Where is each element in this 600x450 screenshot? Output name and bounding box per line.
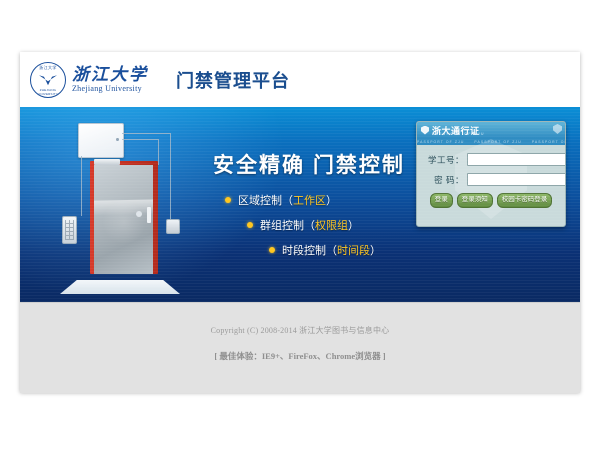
feature-highlight: 权限组 bbox=[315, 217, 348, 233]
site-header: 浙江大学 ZHEJIANG UNIVERSITY 浙江大学 Zhejiang U… bbox=[20, 52, 580, 107]
university-name: 浙江大学 Zhejiang University bbox=[72, 66, 148, 93]
feature-label: 群组控制（ bbox=[260, 217, 315, 233]
wire-to-keypad bbox=[81, 156, 82, 216]
feature-label: 区域控制（ bbox=[238, 192, 293, 208]
feature-item-area-control: 区域控制（ 工作区 ） bbox=[225, 192, 381, 208]
zju-seal-icon: 浙江大学 ZHEJIANG UNIVERSITY bbox=[30, 62, 66, 98]
banner-headline: 安全精确 门禁控制 bbox=[213, 149, 405, 179]
wire-top-right-2 bbox=[122, 139, 158, 140]
strip-text: PASSPORT OF ZJU bbox=[532, 140, 565, 144]
username-label: 学工号： bbox=[424, 154, 467, 166]
login-panel: 浙大通行证 PASSPORT OF ZJU PASSPORT OF ZJU PA… bbox=[416, 121, 566, 227]
login-panel-subtitle: PASSPORT OF ZJU bbox=[432, 132, 485, 136]
seal-top-text: 浙江大学 bbox=[31, 65, 65, 70]
password-label: 密 码： bbox=[424, 174, 467, 186]
bullet-dot-icon bbox=[247, 222, 253, 228]
door-handle-icon bbox=[147, 207, 151, 223]
login-button[interactable]: 登录 bbox=[430, 193, 453, 208]
hero-banner: 安全精确 门禁控制 区域控制（ 工作区 ） 群组控制（ 权限组 ） 时段 bbox=[20, 107, 580, 302]
login-panel-header: 浙大通行证 PASSPORT OF ZJU bbox=[417, 122, 565, 138]
controller-box-icon bbox=[78, 123, 124, 158]
login-notice-button[interactable]: 登录须知 bbox=[457, 193, 493, 208]
wire-to-closer bbox=[158, 139, 159, 165]
seal-bottom-text: ZHEJIANG UNIVERSITY bbox=[31, 88, 65, 96]
login-form: 学工号： 密 码： 登录 登录须知 校园卡密码登录 bbox=[417, 145, 565, 208]
feature-tail: ） bbox=[370, 242, 381, 258]
field-row-username: 学工号： bbox=[424, 153, 558, 166]
feature-highlight: 工作区 bbox=[293, 192, 326, 208]
wire-to-cardreader bbox=[170, 133, 171, 219]
feature-highlight: 时间段 bbox=[337, 242, 370, 258]
feature-label: 时段控制（ bbox=[282, 242, 337, 258]
door-knob-icon bbox=[136, 211, 142, 217]
shield-icon bbox=[421, 126, 429, 135]
field-row-password: 密 码： bbox=[424, 173, 558, 186]
page-root: 浙江大学 ZHEJIANG UNIVERSITY 浙江大学 Zhejiang U… bbox=[0, 0, 600, 450]
card-reader-icon bbox=[166, 219, 180, 234]
door-closer-icon bbox=[94, 159, 120, 165]
shield-watermark-icon bbox=[553, 124, 562, 134]
feature-item-group-control: 群组控制（ 权限组 ） bbox=[247, 217, 381, 233]
university-name-cn: 浙江大学 bbox=[72, 66, 148, 83]
zju-bird-icon bbox=[38, 72, 58, 87]
university-logo: 浙江大学 ZHEJIANG UNIVERSITY 浙江大学 Zhejiang U… bbox=[30, 62, 148, 98]
keypad-reader-icon bbox=[62, 216, 77, 244]
university-name-en: Zhejiang University bbox=[72, 85, 148, 93]
browser-recommendation-text: [ 最佳体验：IE9+、FireFox、Chrome浏览器 ] bbox=[214, 350, 385, 362]
strip-text: PASSPORT OF ZJU bbox=[417, 140, 474, 144]
site-card: 浙江大学 ZHEJIANG UNIVERSITY 浙江大学 Zhejiang U… bbox=[20, 52, 580, 392]
site-footer: Copyright (C) 2008-2014 浙江大学图书与信息中心 [ 最佳… bbox=[20, 302, 580, 393]
campus-card-login-button[interactable]: 校园卡密码登录 bbox=[497, 193, 553, 208]
door-illustration bbox=[48, 119, 188, 294]
feature-tail: ） bbox=[348, 217, 359, 233]
bullet-dot-icon bbox=[225, 197, 231, 203]
feature-item-time-control: 时段控制（ 时间段 ） bbox=[269, 242, 381, 258]
page-title: 门禁管理平台 bbox=[176, 67, 290, 93]
banner-feature-list: 区域控制（ 工作区 ） 群组控制（ 权限组 ） 时段控制（ 时间段 ） bbox=[225, 192, 381, 267]
wire-top-right bbox=[122, 133, 170, 134]
password-input[interactable] bbox=[467, 173, 566, 186]
door-panel bbox=[94, 165, 153, 274]
login-button-row: 登录 登录须知 校园卡密码登录 bbox=[424, 193, 558, 208]
bullet-dot-icon bbox=[269, 247, 275, 253]
username-input[interactable] bbox=[467, 153, 566, 166]
floor-plate bbox=[60, 280, 180, 294]
feature-tail: ） bbox=[326, 192, 337, 208]
copyright-text: Copyright (C) 2008-2014 浙江大学图书与信息中心 bbox=[211, 325, 390, 336]
